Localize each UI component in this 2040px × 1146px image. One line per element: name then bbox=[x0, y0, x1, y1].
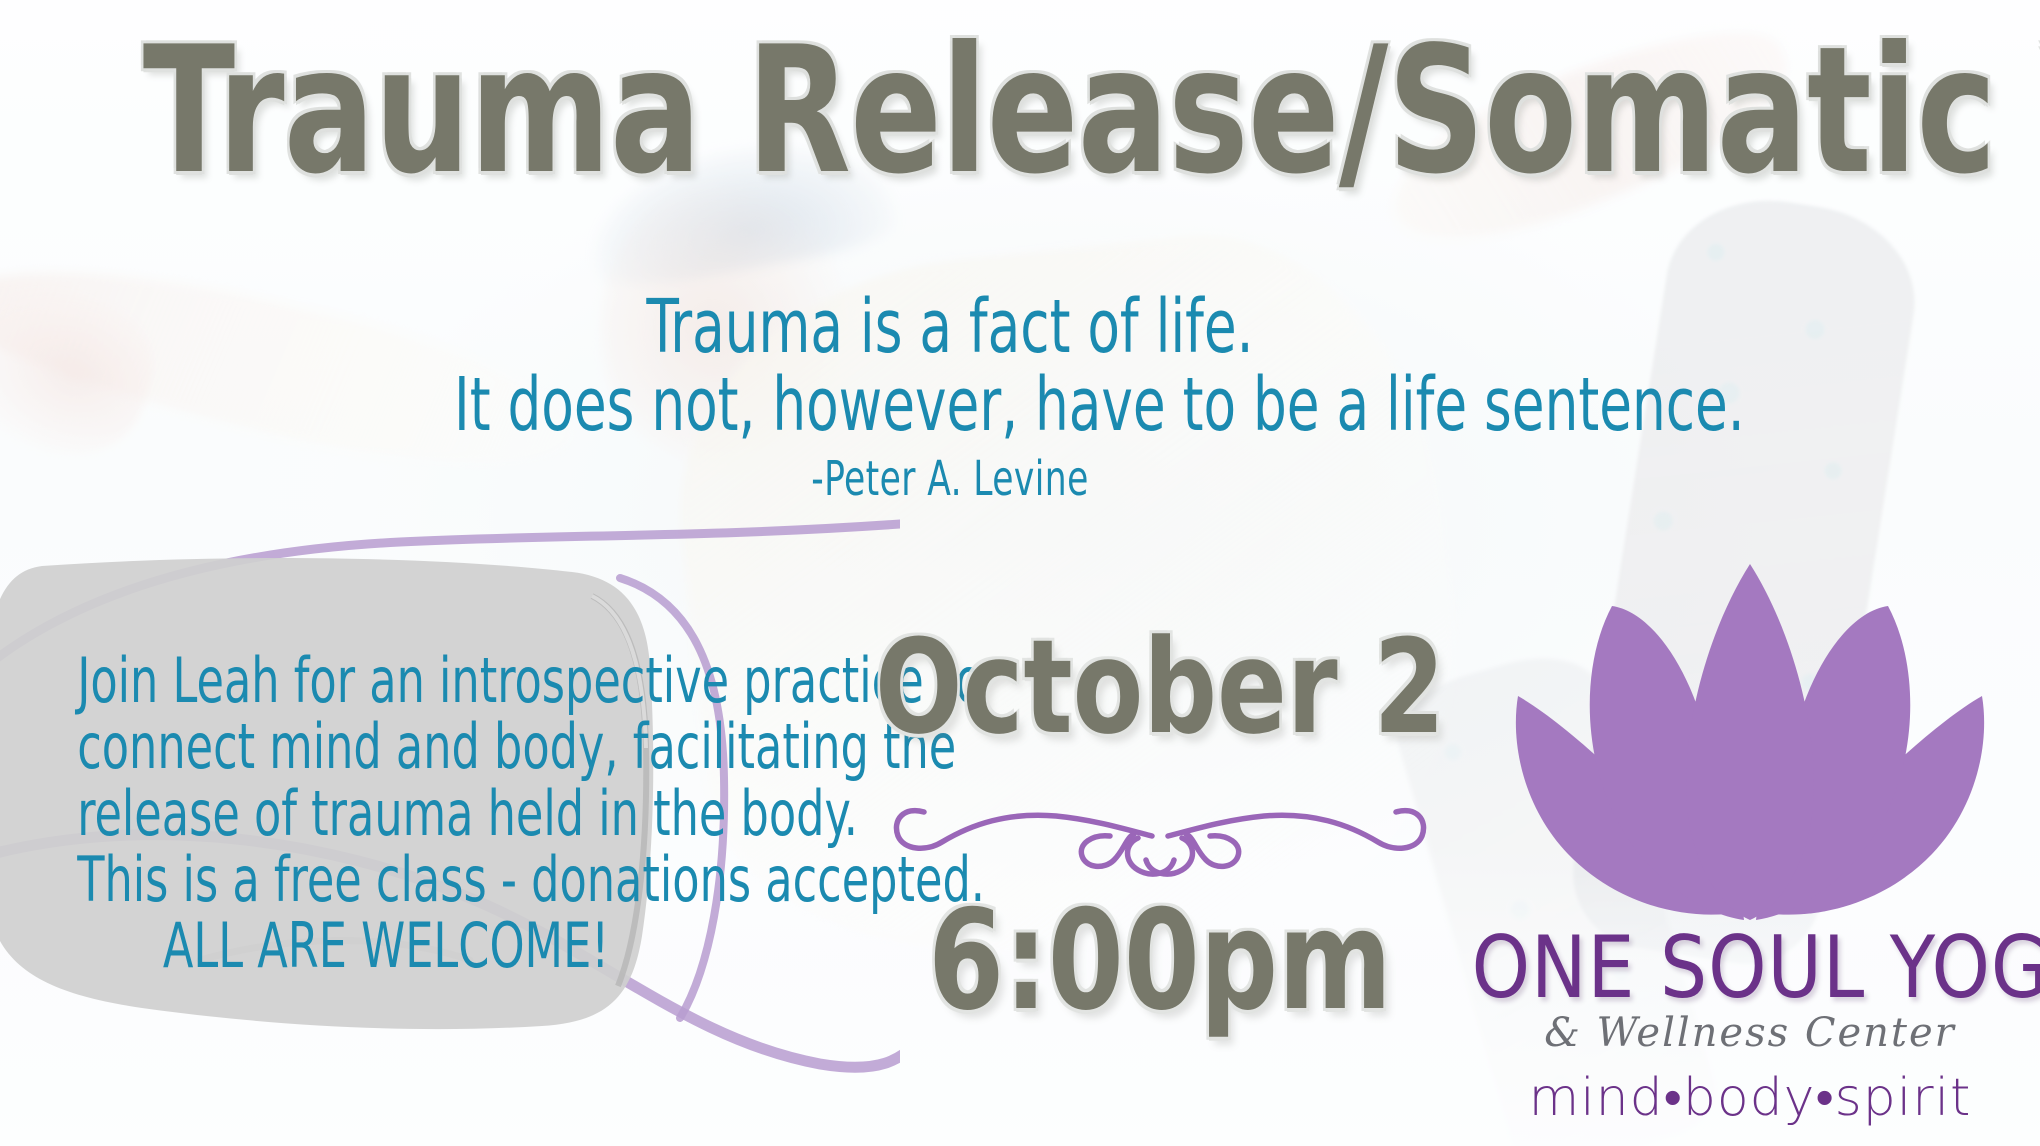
description-line-1: Join Leah for an introspective practice … bbox=[77, 648, 695, 714]
logo: ONE SOUL YOGA & Wellness Center mind•bod… bbox=[1460, 548, 2040, 1108]
quote-line-2: It does not, however, have to be a life … bbox=[454, 366, 1446, 444]
class-description: Join Leah for an introspective practice … bbox=[77, 648, 695, 980]
logo-tagline: mind•body•spirit bbox=[1460, 1068, 2040, 1128]
description-line-2: connect mind and body, facilitating the bbox=[77, 714, 695, 780]
logo-subtitle: & Wellness Center bbox=[1460, 1010, 2040, 1056]
all-are-welcome-line: ALL ARE WELCOME! bbox=[77, 913, 695, 979]
quote-attribution: -Peter A. Levine bbox=[454, 445, 1446, 515]
lotus-flower-icon bbox=[1510, 548, 1990, 928]
description-line-4: This is a free class - donations accepte… bbox=[77, 847, 695, 913]
logo-name: ONE SOUL YOGA bbox=[1472, 918, 2029, 1018]
event-time: 6:00pm bbox=[834, 892, 1485, 1030]
event-date: October 2 bbox=[834, 622, 1485, 752]
description-line-3: release of trauma held in the body. bbox=[77, 781, 695, 847]
quote-block: Trauma is a fact of life. It does not, h… bbox=[454, 288, 1446, 514]
flyer-poster: Trauma Release/Somatic Yoga Trauma is a … bbox=[0, 0, 2040, 1146]
page-title: Trauma Release/Somatic Yoga bbox=[143, 24, 1897, 199]
quote-line-1: Trauma is a fact of life. bbox=[454, 288, 1446, 366]
